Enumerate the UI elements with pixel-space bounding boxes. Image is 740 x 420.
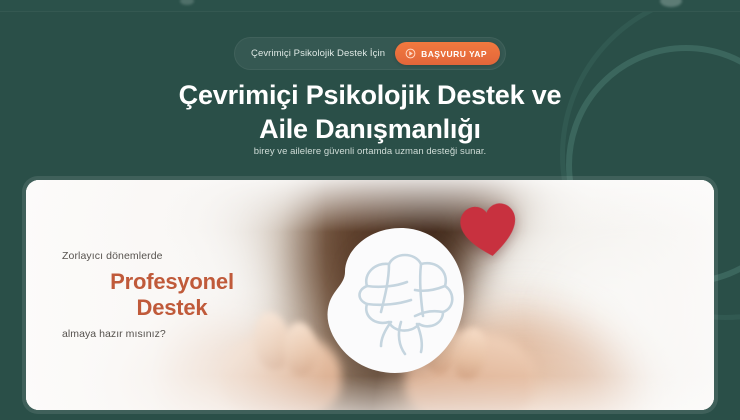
cta-pill-label: Çevrimiçi Psikolojik Destek İçin (251, 48, 385, 59)
hero-headline: Çevrimiçi Psikolojik Destek ve Aile Danı… (0, 78, 740, 146)
apply-button[interactable]: BAŞVURU YAP (395, 42, 500, 65)
card-text-block: Zorlayıcı dönemlerde Profesyonel Destek … (62, 250, 282, 340)
hero-headline-line-1: Çevrimiçi Psikolojik Destek ve (40, 78, 700, 112)
card-title-line-1: Profesyonel (110, 269, 234, 294)
card-subtext: almaya hazır mısınız? (62, 328, 282, 340)
hero-headline-line-2: Aile Danışmanlığı (40, 112, 700, 146)
card-title: Profesyonel Destek (62, 269, 282, 320)
hero-subheadline: birey ve ailelere güvenli ortamda uzman … (0, 146, 740, 157)
top-bar-glyph-left (180, 0, 194, 5)
head-brain-cutout-icon (323, 226, 475, 376)
top-bar-glyph-right (660, 0, 682, 7)
cursor-click-icon (405, 48, 416, 59)
card-title-line-2: Destek (62, 295, 282, 321)
cta-pill: Çevrimiçi Psikolojik Destek İçin BAŞVURU… (234, 37, 506, 70)
hero-card: Zorlayıcı dönemlerde Profesyonel Destek … (22, 176, 718, 414)
photo-right-fade (524, 180, 714, 410)
heart-icon (454, 196, 524, 264)
top-bar (0, 0, 740, 12)
hero-card-media: Zorlayıcı dönemlerde Profesyonel Destek … (26, 180, 714, 410)
card-kicker: Zorlayıcı dönemlerde (62, 250, 282, 262)
page-root: Çevrimiçi Psikolojik Destek İçin BAŞVURU… (0, 0, 740, 420)
apply-button-label: BAŞVURU YAP (421, 49, 487, 59)
